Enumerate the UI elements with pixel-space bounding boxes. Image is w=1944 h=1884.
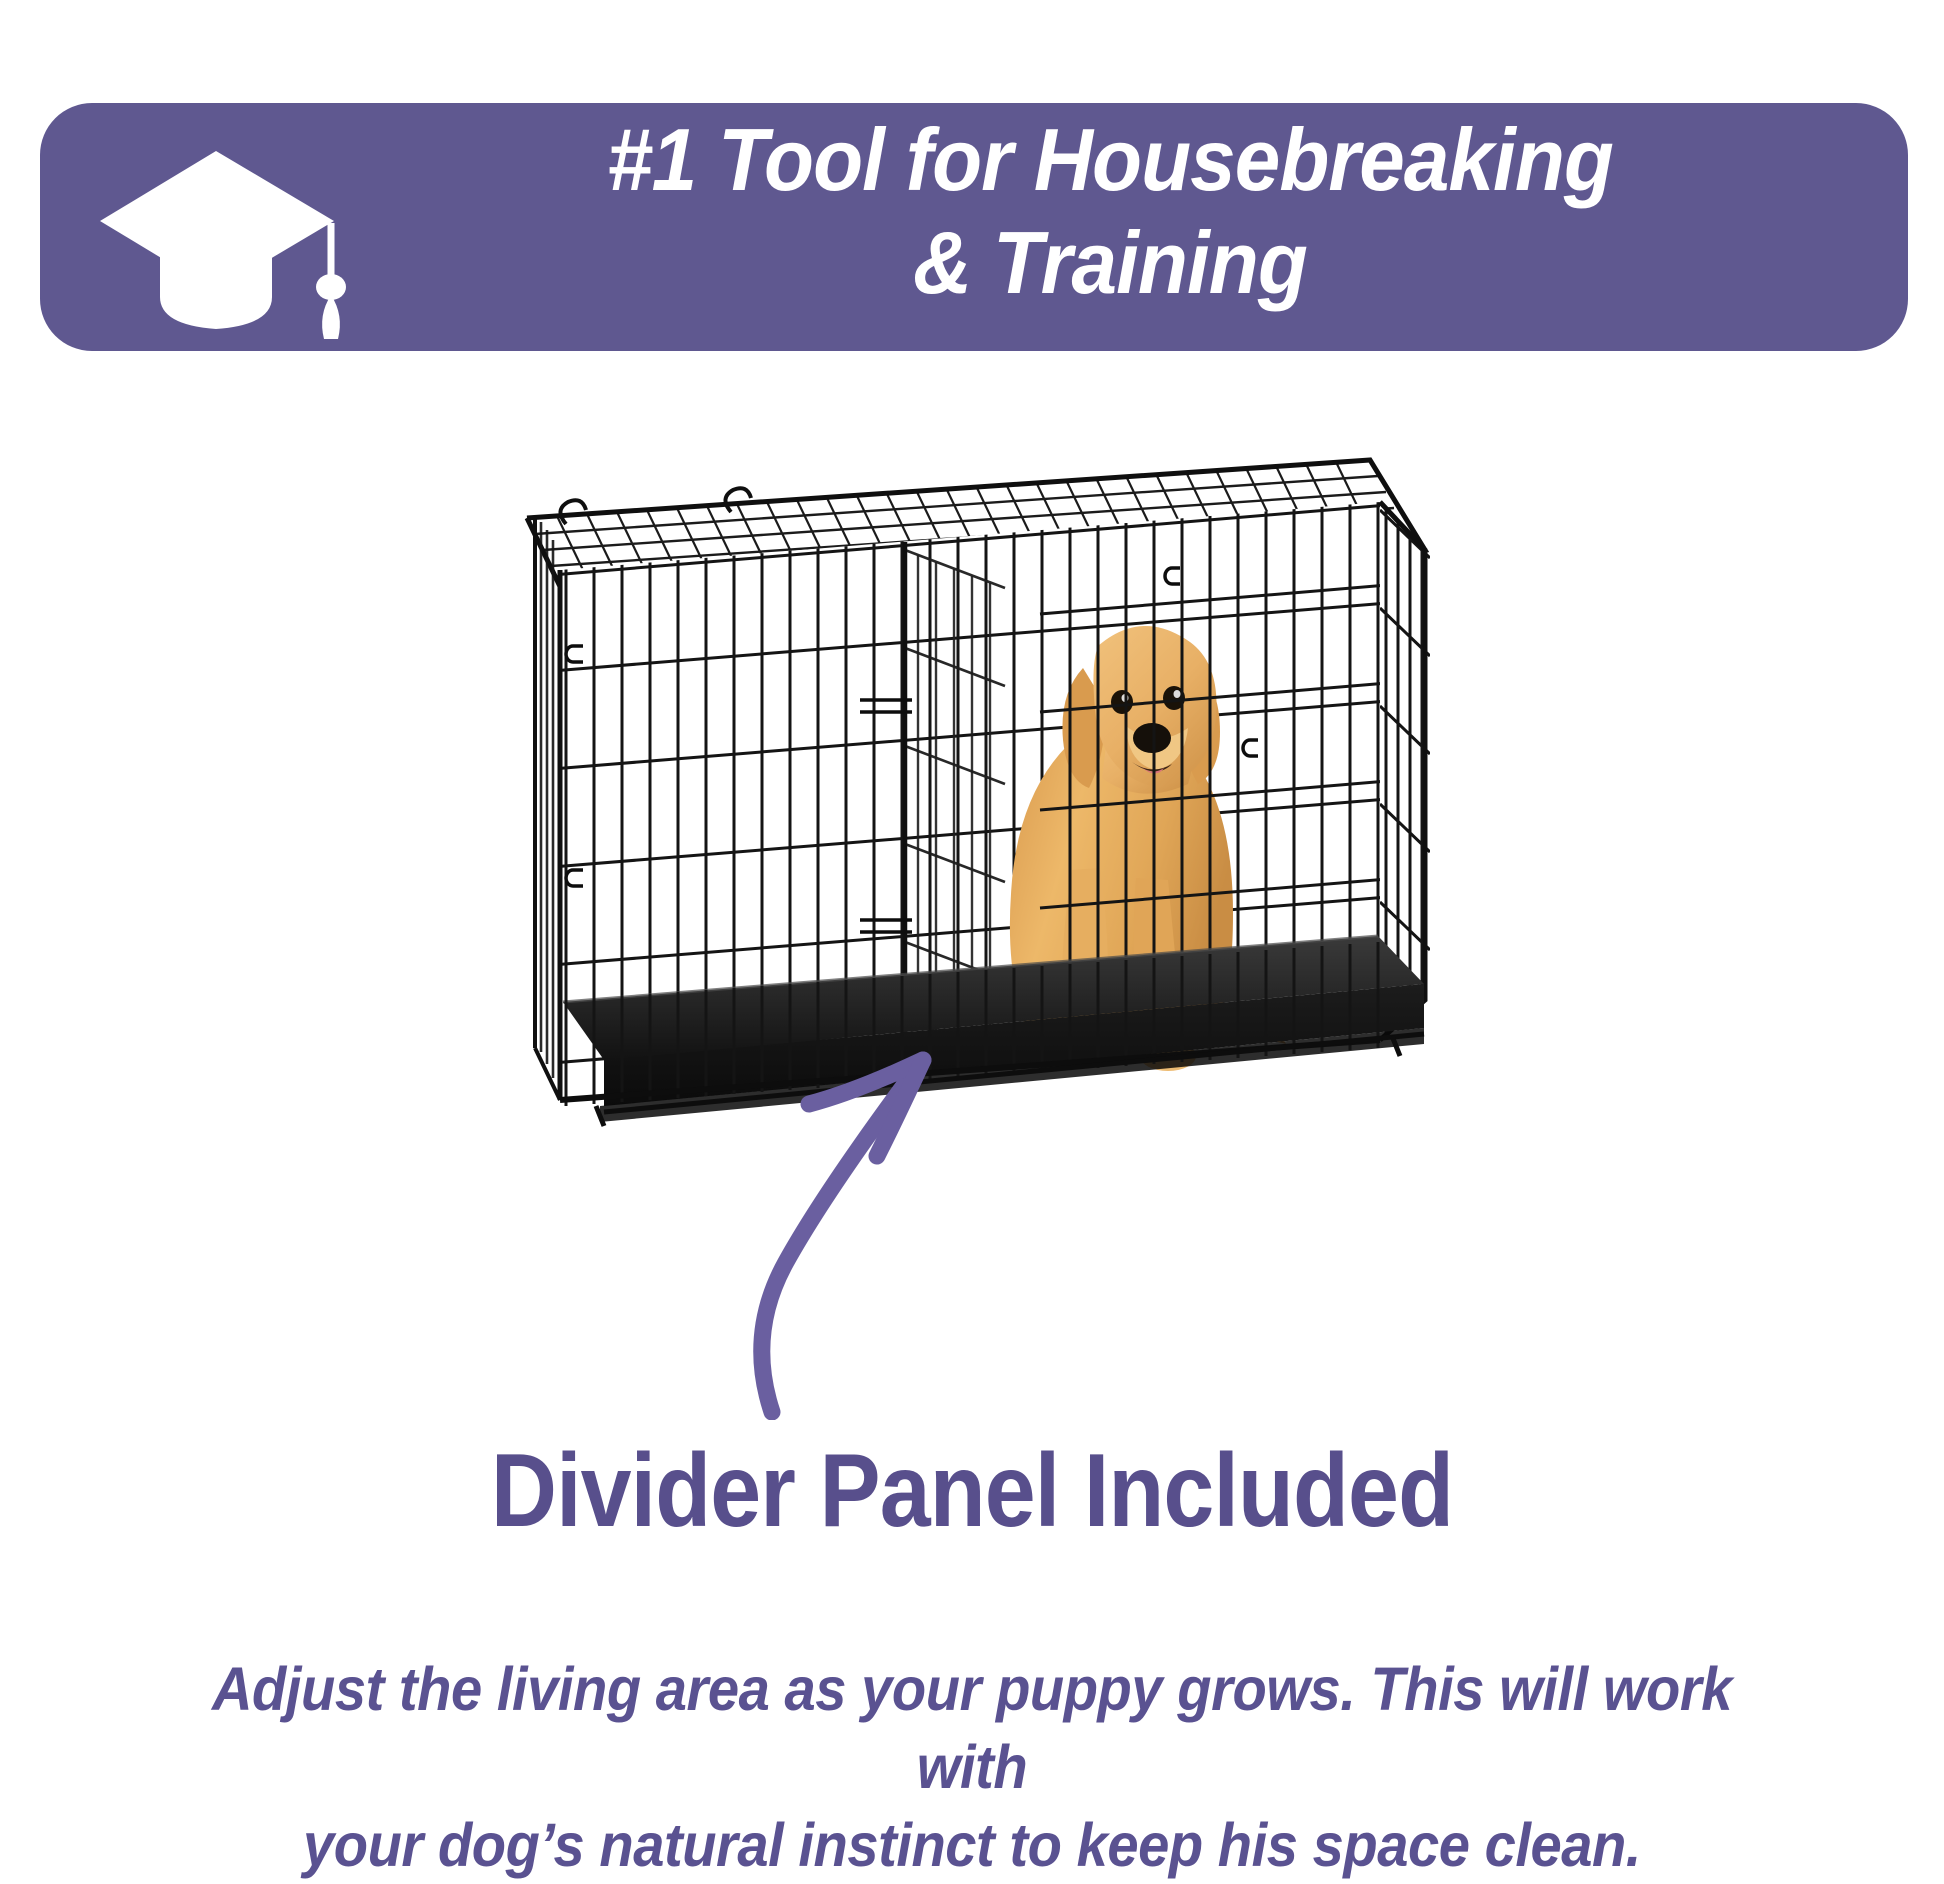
feature-description: Adjust the living area as your puppy gro… bbox=[162, 1650, 1781, 1884]
graduation-cap-icon bbox=[98, 129, 388, 339]
promo-banner: #1 Tool for Housebreaking & Training bbox=[40, 103, 1908, 351]
product-photo-dog-crate bbox=[0, 400, 1944, 1200]
feature-title: Divider Panel Included bbox=[117, 1434, 1828, 1548]
banner-headline: #1 Tool for Housebreaking & Training bbox=[394, 109, 1826, 315]
